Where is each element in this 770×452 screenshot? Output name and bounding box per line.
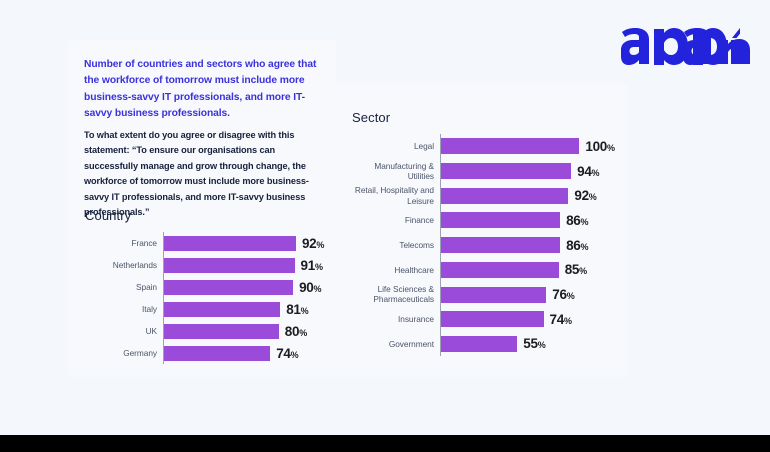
bar [441,237,560,253]
category-label: Insurance [349,314,434,324]
bar [441,336,517,352]
bar [164,258,294,273]
category-label: Retail, Hospitality and Leisure [349,185,434,206]
bar [441,212,560,228]
lead-heading: Number of countries and sectors who agre… [84,57,322,123]
bar [164,236,296,251]
bar [164,324,278,339]
bar [164,280,293,295]
value-label: 74% [550,311,572,329]
country-chart-title: Country [85,208,131,223]
value-label: 92% [574,187,596,205]
bar [164,302,280,317]
survey-question-text: To what extent do you agree or disagree … [84,128,327,220]
slide: Number of countries and sectors who agre… [0,0,770,452]
bar [441,311,543,327]
category-label: Legal [349,141,434,151]
value-label: 74% [276,345,298,363]
category-label: Healthcare [349,265,434,275]
value-label: 76% [552,286,574,304]
bar [441,287,546,303]
value-label: 100% [585,138,615,156]
country-bar-chart: Country France92%Netherlands91%Spain90%I… [80,208,330,368]
category-label: Italy [79,304,157,314]
value-label: 81% [286,301,308,319]
category-label: UK [79,326,157,336]
value-label: 85% [565,261,587,279]
bar [441,163,571,179]
bar [441,262,558,278]
country-chart-axis [163,232,164,364]
category-label: Germany [79,348,157,358]
sector-bar-chart: Sector Legal100%Manufacturing & Utilitie… [350,110,625,365]
slide-canvas: Number of countries and sectors who agre… [0,0,770,435]
category-label: Telecoms [349,240,434,250]
category-label: Manufacturing & Utilities [349,161,434,182]
category-label: France [79,238,157,248]
value-label: 86% [566,237,588,255]
value-label: 92% [302,235,324,253]
value-label: 91% [301,257,323,275]
value-label: 80% [285,323,307,341]
value-label: 90% [299,279,321,297]
category-label: Spain [79,282,157,292]
category-label: Netherlands [79,260,157,270]
bar [441,138,579,154]
value-label: 94% [577,163,599,181]
bar [441,188,568,204]
category-label: Finance [349,215,434,225]
bar [164,346,270,361]
value-label: 55% [523,335,545,353]
category-label: Life Sciences & Pharmaceuticals [349,284,434,305]
letterbox-bar [0,435,770,452]
appian-logo [620,28,740,68]
category-label: Government [349,339,434,349]
sector-chart-title: Sector [352,110,390,125]
value-label: 86% [566,212,588,230]
